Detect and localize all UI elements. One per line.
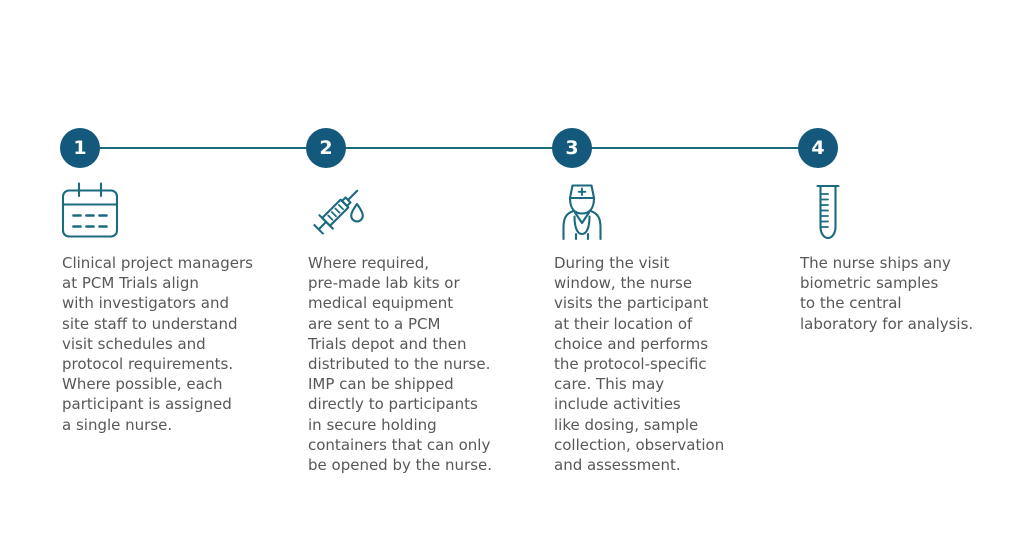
syringe-icon: [306, 182, 366, 242]
step-number-badge-4: 4: [798, 128, 838, 168]
step-number-badge-1: 1: [60, 128, 100, 168]
step-description-2: Where required, pre-made lab kits or med…: [308, 253, 552, 475]
step-description-3: During the visit window, the nurse visit…: [554, 253, 798, 475]
process-infographic: 1 Clinical project managers at PCM Trial…: [0, 0, 1024, 559]
step-number-badge-3: 3: [552, 128, 592, 168]
nurse-icon: [552, 182, 612, 242]
step-description-4: The nurse ships any biometric samples to…: [800, 253, 1024, 334]
step-number-badge-2: 2: [306, 128, 346, 168]
test-tube-icon: [798, 182, 858, 242]
timeline-connector-line: [80, 147, 817, 149]
step-description-1: Clinical project managers at PCM Trials …: [62, 253, 306, 435]
calendar-icon: [60, 182, 120, 242]
